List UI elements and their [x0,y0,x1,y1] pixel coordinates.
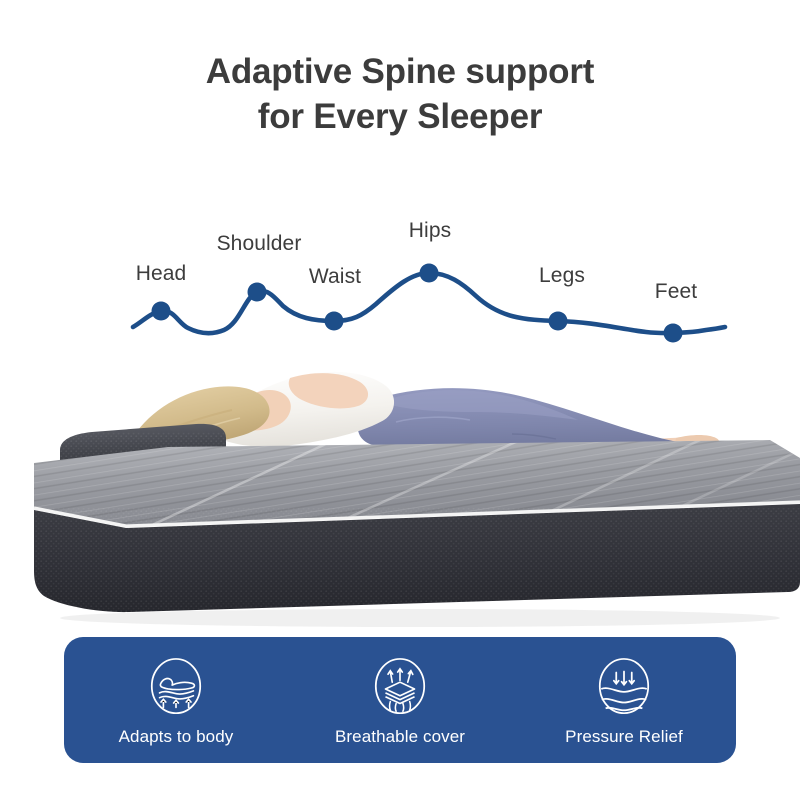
spine-label-feet: Feet [655,280,697,304]
feature-label: Adapts to body [119,727,234,747]
spine-label-waist: Waist [309,265,361,289]
spine-label-hips: Hips [409,219,451,243]
headline-line-1: Adaptive Spine support [206,52,594,91]
feature-adapts-to-body[interactable]: Adapts to body [76,653,276,747]
spine-label-legs: Legs [539,264,585,288]
page-title: Adaptive Spine support for Every Sleeper [0,50,800,140]
spine-point-hips [420,264,439,283]
spine-point-shoulder [248,283,267,302]
spine-label-head: Head [136,262,187,286]
infographic-canvas: Adaptive Spine support for Every Sleeper… [0,0,800,800]
breathable-layers-icon [369,657,431,719]
spine-point-head [152,302,171,321]
feature-bar: Adapts to body [64,637,736,763]
mattress-scene-svg [0,330,800,630]
mattress [0,430,800,627]
spine-label-shoulder: Shoulder [217,232,302,256]
headline-line-2: for Every Sleeper [0,95,800,140]
product-photo-scene [0,330,800,630]
feature-label: Pressure Relief [565,727,683,747]
body-contour-icon [145,657,207,719]
spine-point-legs [549,312,568,331]
feature-pressure-relief[interactable]: Pressure Relief [524,653,724,747]
feature-label: Breathable cover [335,727,465,747]
spine-point-waist [325,312,344,331]
feature-breathable-cover[interactable]: Breathable cover [300,653,500,747]
pressure-relief-icon [593,657,655,719]
